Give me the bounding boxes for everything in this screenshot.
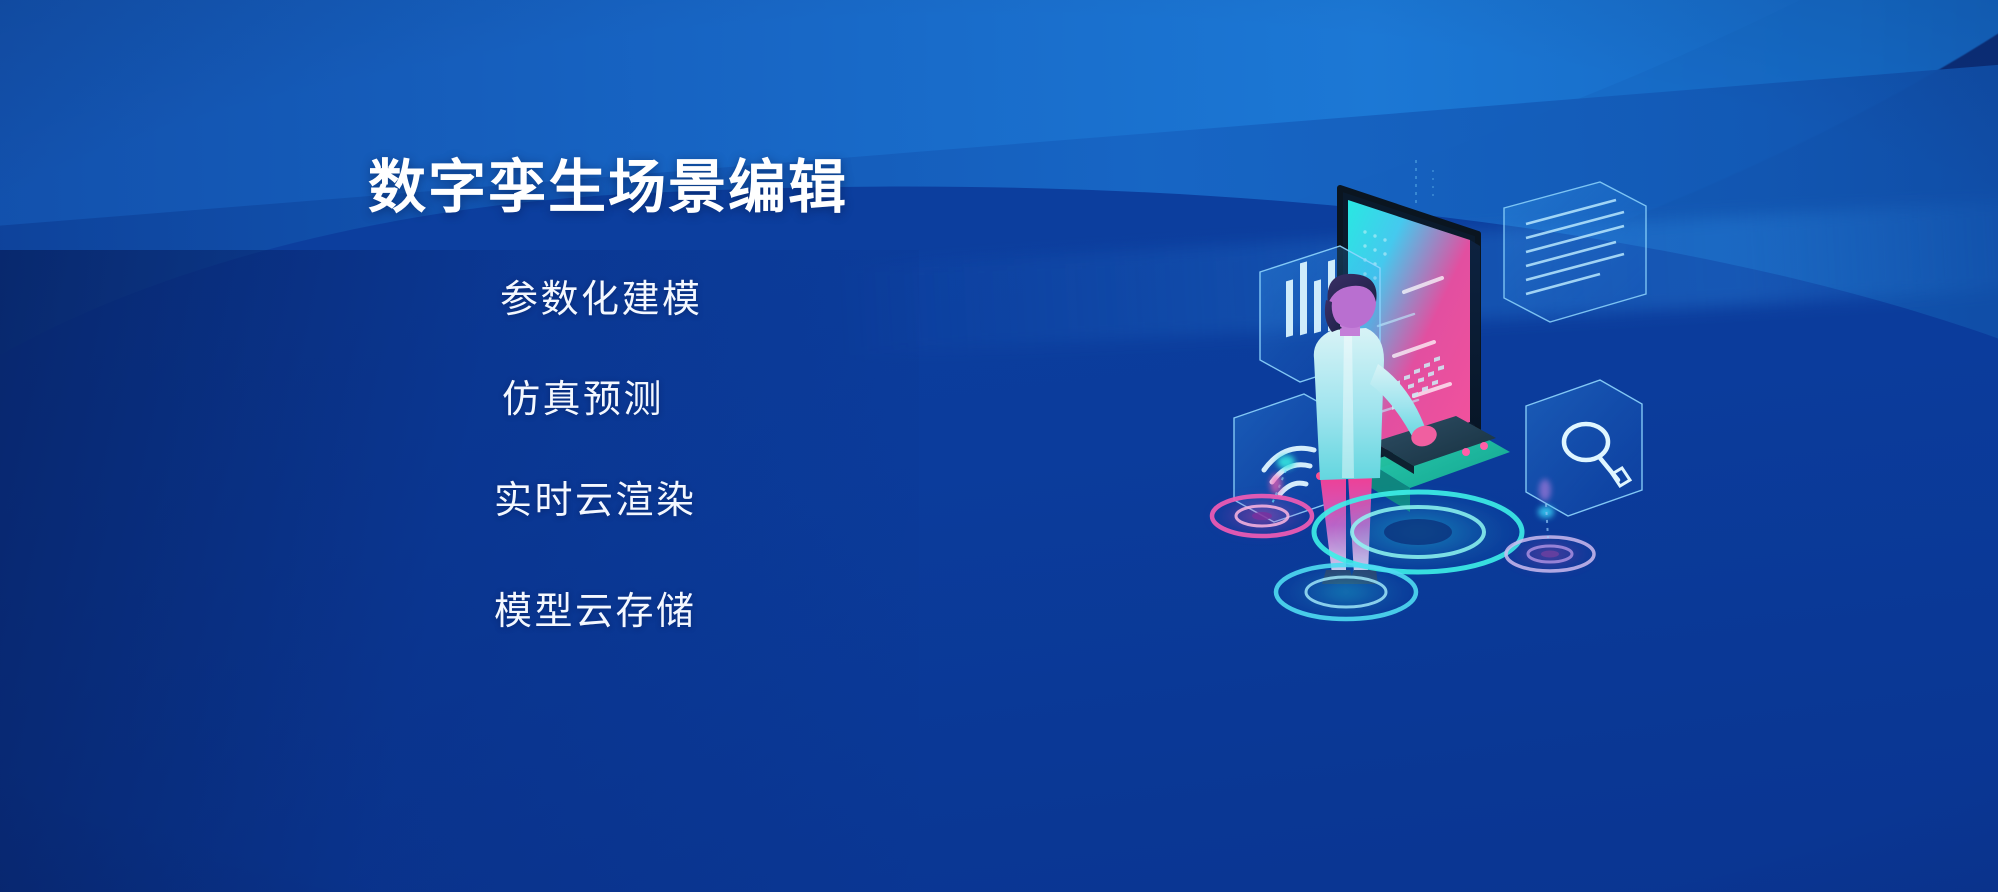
- glow-ring-platform: [1208, 488, 1598, 622]
- background-lower-shade: [0, 250, 919, 892]
- slide-canvas: 数字孪生场景编辑 参数化建模 仿真预测 实时云渲染 模型云存储: [0, 0, 1998, 892]
- digital-twin-illustration: [1228, 160, 1668, 670]
- document-lines-panel: [1504, 182, 1646, 322]
- data-thread-lines: [1416, 160, 1433, 208]
- list-item: 模型云存储: [494, 592, 697, 634]
- list-item: 实时云渲染: [494, 481, 697, 523]
- list-item: 仿真预测: [502, 380, 664, 422]
- list-item: 参数化建模: [500, 280, 703, 322]
- slide-title: 数字孪生场景编辑: [368, 157, 848, 218]
